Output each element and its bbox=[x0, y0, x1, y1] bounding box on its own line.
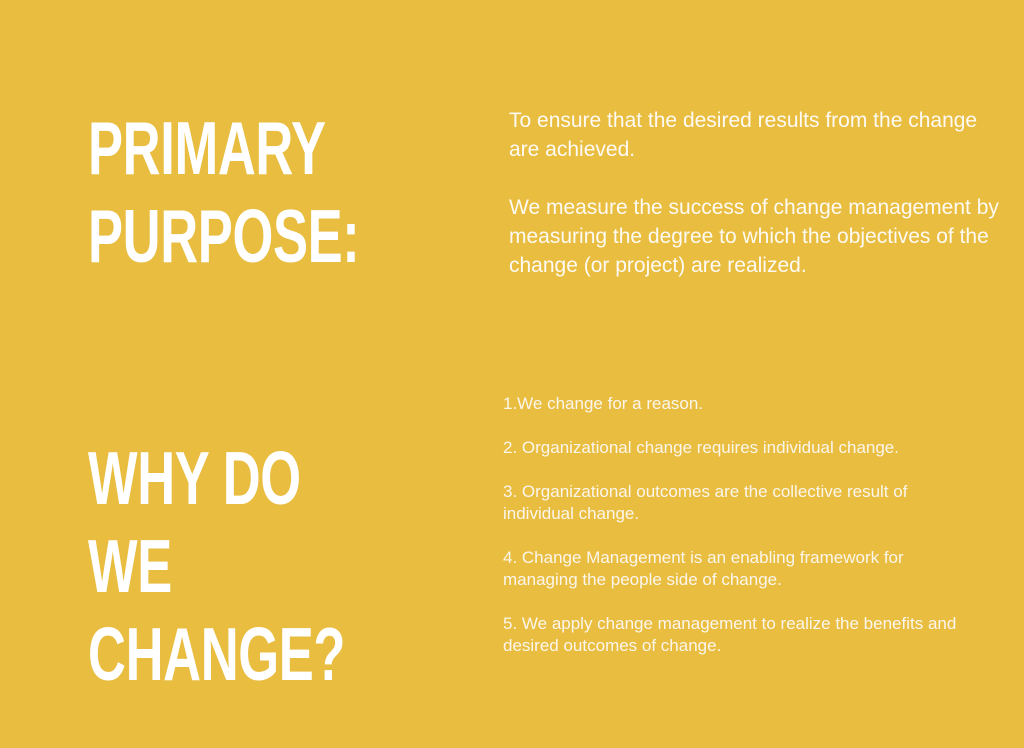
reasons-list: 1.We change for a reason. 2. Organizatio… bbox=[503, 393, 973, 657]
body-paragraph: We measure the success of change managem… bbox=[509, 193, 999, 280]
slide-canvas: PRIMARY PURPOSE: To ensure that the desi… bbox=[0, 0, 1024, 748]
list-item: 3. Organizational outcomes are the colle… bbox=[503, 481, 973, 525]
list-item: 4. Change Management is an enabling fram… bbox=[503, 547, 973, 591]
list-item: 1.We change for a reason. bbox=[503, 393, 973, 415]
heading-primary-purpose: PRIMARY PURPOSE: bbox=[88, 104, 536, 280]
body-paragraph: To ensure that the desired results from … bbox=[509, 106, 999, 164]
list-item: 2. Organizational change requires indivi… bbox=[503, 437, 973, 459]
heading-why-do-we-change: WHY DO WE CHANGE? bbox=[88, 434, 536, 698]
primary-purpose-body: To ensure that the desired results from … bbox=[509, 106, 999, 280]
list-item: 5. We apply change management to realize… bbox=[503, 613, 973, 657]
